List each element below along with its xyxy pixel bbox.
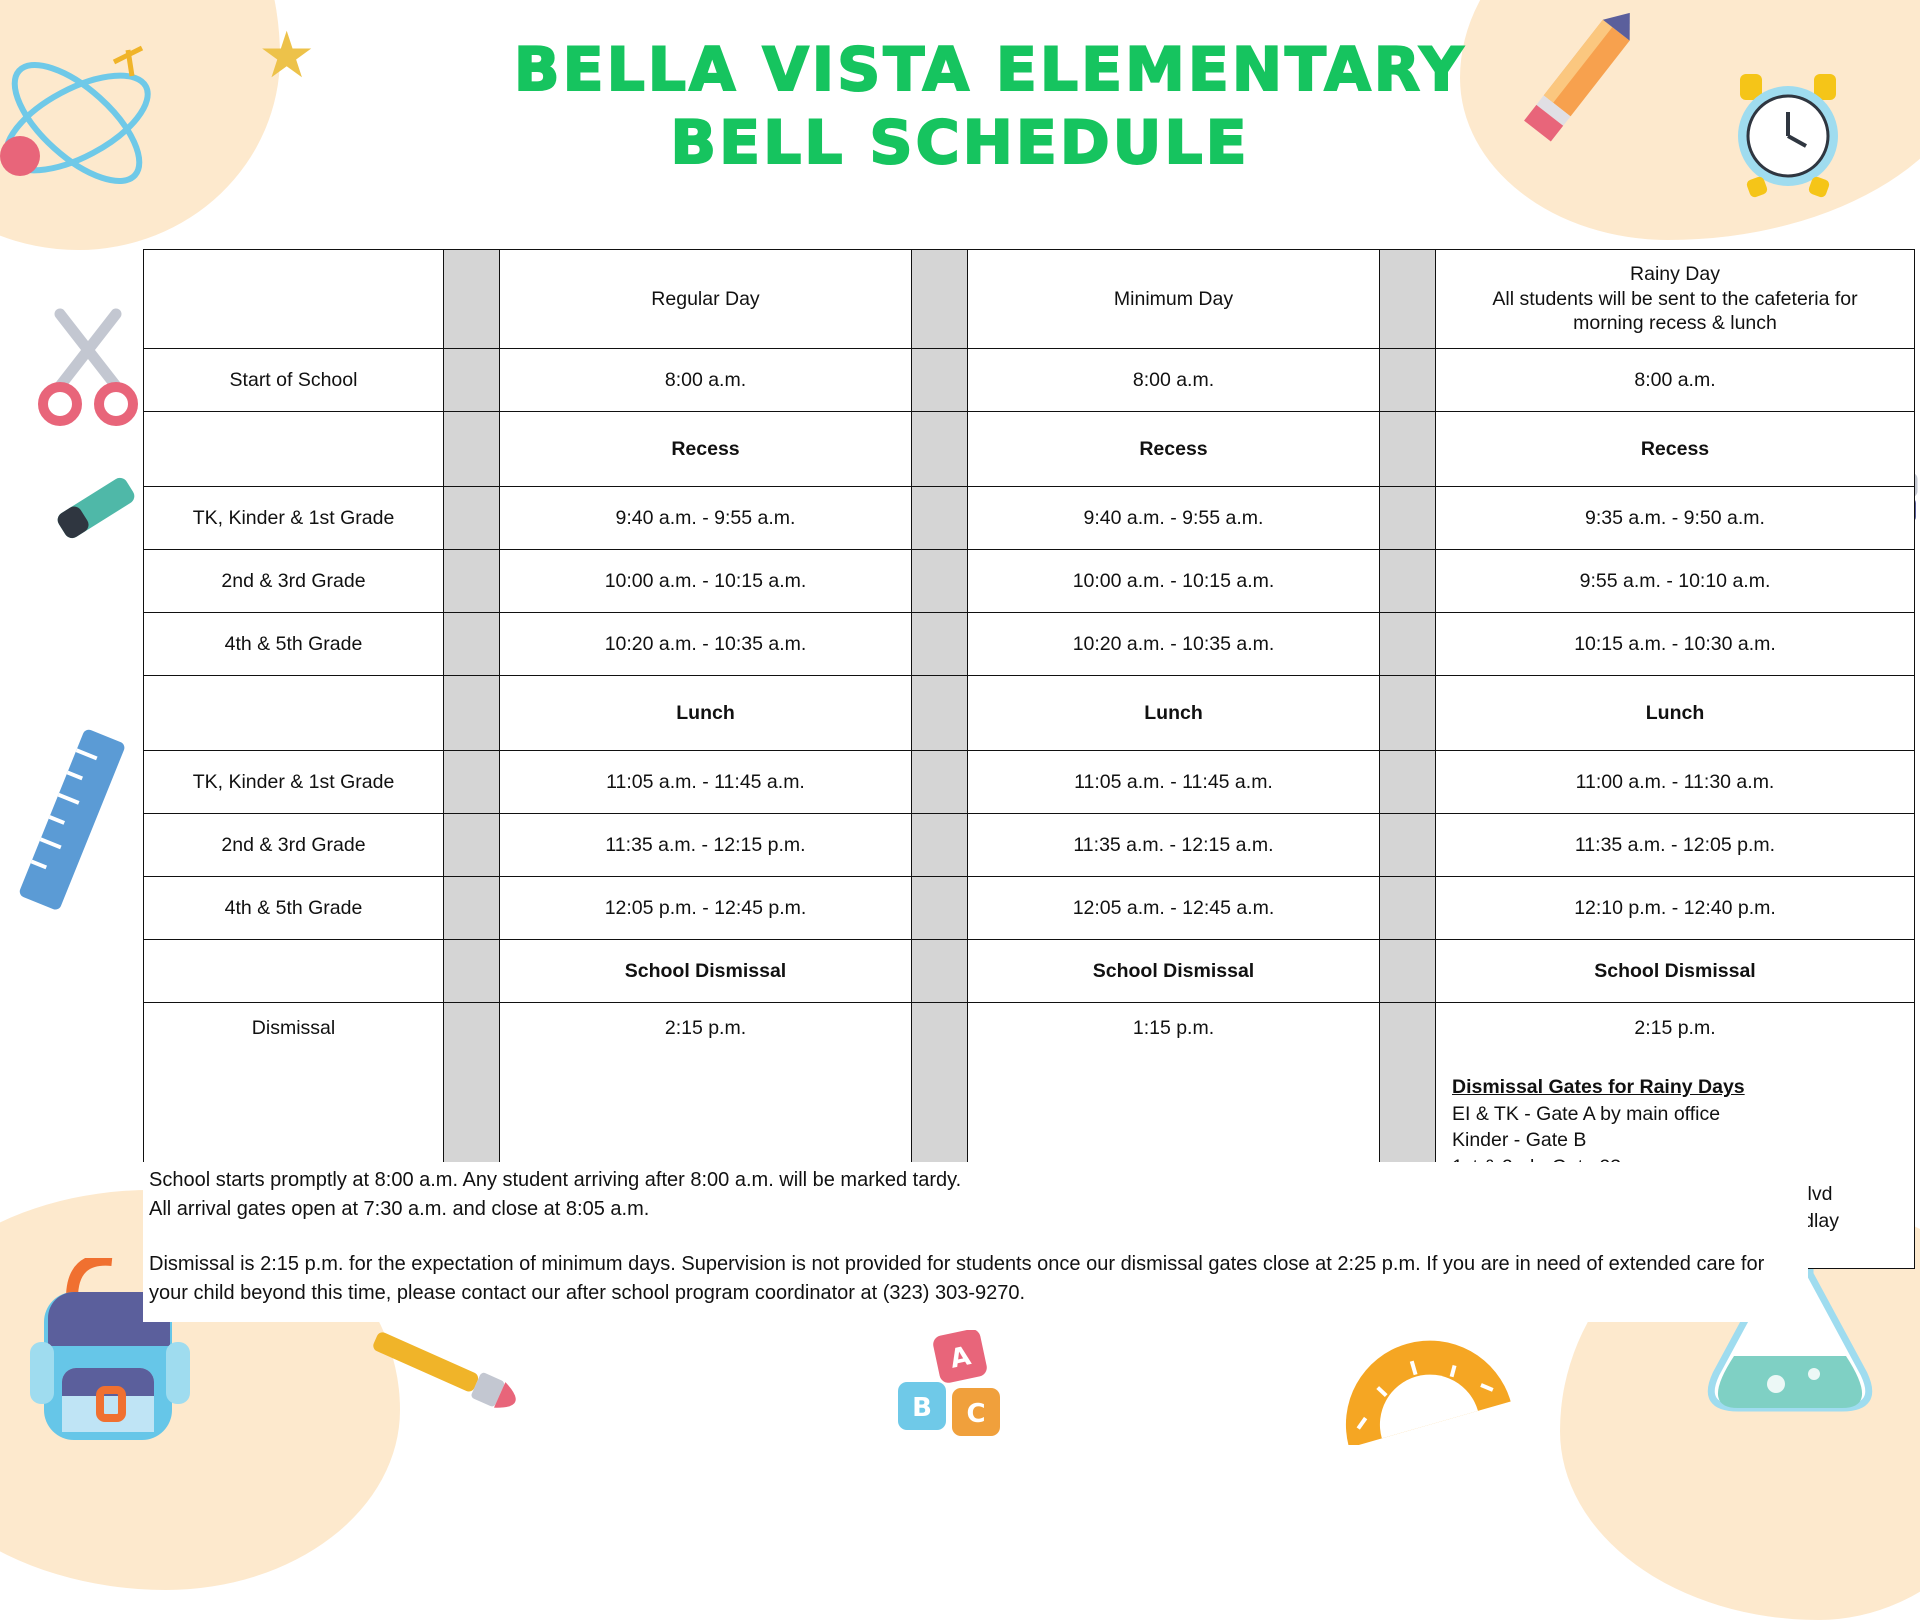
cell-minimum: 12:05 a.m. - 12:45 a.m. bbox=[968, 877, 1380, 940]
row-label: TK, Kinder & 1st Grade bbox=[144, 487, 444, 550]
row-label: Start of School bbox=[144, 349, 444, 412]
column-spacer bbox=[444, 814, 500, 877]
cell-rainy: 10:15 a.m. - 10:30 a.m. bbox=[1436, 613, 1915, 676]
ruler-icon bbox=[8, 720, 138, 920]
cell-rainy: 11:35 a.m. - 12:05 p.m. bbox=[1436, 814, 1915, 877]
column-spacer bbox=[912, 877, 968, 940]
cell-rainy: Recess bbox=[1436, 412, 1915, 487]
column-spacer bbox=[444, 676, 500, 751]
table-row: TK, Kinder & 1st Grade 11:05 a.m. - 11:4… bbox=[144, 751, 1915, 814]
schedule-sheet: Regular Day Minimum Day Rainy Day All st… bbox=[143, 249, 1808, 1269]
column-spacer bbox=[1380, 550, 1436, 613]
cell-rainy: 9:55 a.m. - 10:10 a.m. bbox=[1436, 550, 1915, 613]
cell-rainy: 12:10 p.m. - 12:40 p.m. bbox=[1436, 877, 1915, 940]
column-spacer bbox=[912, 349, 968, 412]
eraser-icon bbox=[48, 468, 144, 548]
note-line-3: Dismissal is 2:15 p.m. for the expectati… bbox=[149, 1250, 1802, 1308]
column-spacer bbox=[444, 250, 500, 349]
cell-regular: 11:05 a.m. - 11:45 a.m. bbox=[500, 751, 912, 814]
svg-text:A: A bbox=[947, 1341, 973, 1375]
column-spacer bbox=[1380, 487, 1436, 550]
table-row: TK, Kinder & 1st Grade 9:40 a.m. - 9:55 … bbox=[144, 487, 1915, 550]
row-label: TK, Kinder & 1st Grade bbox=[144, 751, 444, 814]
svg-text:C: C bbox=[966, 1399, 985, 1429]
table-row: 4th & 5th Grade 10:20 a.m. - 10:35 a.m. … bbox=[144, 613, 1915, 676]
cell-rainy: 9:35 a.m. - 9:50 a.m. bbox=[1436, 487, 1915, 550]
paintbrush-icon bbox=[352, 1318, 542, 1438]
column-header-minimum: Minimum Day bbox=[968, 250, 1380, 349]
dismissal-gate-item: EI & TK - Gate A by main office bbox=[1452, 1101, 1906, 1128]
cell-rainy: 8:00 a.m. bbox=[1436, 349, 1915, 412]
table-row: 2nd & 3rd Grade 10:00 a.m. - 10:15 a.m. … bbox=[144, 550, 1915, 613]
cell-regular: School Dismissal bbox=[500, 940, 912, 1003]
column-spacer bbox=[444, 349, 500, 412]
table-section-row: Recess Recess Recess bbox=[144, 412, 1915, 487]
column-spacer bbox=[444, 550, 500, 613]
table-section-row: Lunch Lunch Lunch bbox=[144, 676, 1915, 751]
column-spacer bbox=[912, 940, 968, 1003]
column-spacer bbox=[1380, 613, 1436, 676]
page-header: ★ Bella Vista Elementary Bell Schedule bbox=[0, 0, 1920, 180]
table-header-row: Regular Day Minimum Day Rainy Day All st… bbox=[144, 250, 1915, 349]
column-spacer bbox=[912, 550, 968, 613]
cell-regular: 12:05 p.m. - 12:45 p.m. bbox=[500, 877, 912, 940]
column-spacer bbox=[1380, 877, 1436, 940]
rainy-note-line-2: morning recess & lunch bbox=[1444, 311, 1906, 335]
dismissal-gate-item: Kinder - Gate B bbox=[1452, 1127, 1906, 1154]
cell-regular: 8:00 a.m. bbox=[500, 349, 912, 412]
cell-rainy: School Dismissal bbox=[1436, 940, 1915, 1003]
dismissal-gates-title: Dismissal Gates for Rainy Days bbox=[1452, 1074, 1906, 1101]
column-spacer bbox=[912, 487, 968, 550]
column-spacer bbox=[444, 751, 500, 814]
rainy-note-line-1: All students will be sent to the cafeter… bbox=[1444, 287, 1906, 311]
column-spacer bbox=[912, 814, 968, 877]
cell-regular: Recess bbox=[500, 412, 912, 487]
scissors-icon bbox=[38, 300, 148, 430]
cell-minimum: 10:20 a.m. - 10:35 a.m. bbox=[968, 613, 1380, 676]
column-spacer bbox=[444, 487, 500, 550]
note-line-1: School starts promptly at 8:00 a.m. Any … bbox=[149, 1166, 1802, 1195]
column-header-regular: Regular Day bbox=[500, 250, 912, 349]
cell-minimum: Lunch bbox=[968, 676, 1380, 751]
column-spacer bbox=[1380, 751, 1436, 814]
row-label: 4th & 5th Grade bbox=[144, 613, 444, 676]
rainy-dismissal-time: 2:15 p.m. bbox=[1440, 1017, 1910, 1040]
column-spacer bbox=[912, 751, 968, 814]
row-label bbox=[144, 676, 444, 751]
column-spacer bbox=[1380, 940, 1436, 1003]
alphabet-blocks-icon: A B C bbox=[890, 1330, 1040, 1445]
column-spacer bbox=[912, 613, 968, 676]
column-spacer bbox=[912, 412, 968, 487]
cell-regular: 11:35 a.m. - 12:15 p.m. bbox=[500, 814, 912, 877]
table-row: Start of School 8:00 a.m. 8:00 a.m. 8:00… bbox=[144, 349, 1915, 412]
cell-regular: 10:00 a.m. - 10:15 a.m. bbox=[500, 550, 912, 613]
cell-minimum: Recess bbox=[968, 412, 1380, 487]
column-spacer bbox=[444, 412, 500, 487]
row-label bbox=[144, 940, 444, 1003]
svg-text:B: B bbox=[912, 1393, 932, 1423]
row-label: 2nd & 3rd Grade bbox=[144, 550, 444, 613]
column-spacer bbox=[1380, 412, 1436, 487]
cell-minimum: 11:05 a.m. - 11:45 a.m. bbox=[968, 751, 1380, 814]
column-header-rainy: Rainy Day All students will be sent to t… bbox=[1436, 250, 1915, 349]
cell-regular: Lunch bbox=[500, 676, 912, 751]
cell-regular: 10:20 a.m. - 10:35 a.m. bbox=[500, 613, 912, 676]
column-spacer bbox=[912, 676, 968, 751]
cell-minimum: 10:00 a.m. - 10:15 a.m. bbox=[968, 550, 1380, 613]
cell-minimum: 9:40 a.m. - 9:55 a.m. bbox=[968, 487, 1380, 550]
column-spacer bbox=[1380, 676, 1436, 751]
column-spacer bbox=[444, 613, 500, 676]
rainy-title: Rainy Day bbox=[1444, 262, 1906, 286]
table-row: 4th & 5th Grade 12:05 p.m. - 12:45 p.m. … bbox=[144, 877, 1915, 940]
note-spacer bbox=[149, 1224, 1802, 1250]
note-line-2: All arrival gates open at 7:30 a.m. and … bbox=[149, 1195, 1802, 1224]
column-spacer bbox=[444, 877, 500, 940]
header-blank-cell bbox=[144, 250, 444, 349]
column-spacer bbox=[1380, 250, 1436, 349]
row-label bbox=[144, 412, 444, 487]
column-spacer bbox=[912, 250, 968, 349]
cell-rainy: Lunch bbox=[1436, 676, 1915, 751]
table-row: 2nd & 3rd Grade 11:35 a.m. - 12:15 p.m. … bbox=[144, 814, 1915, 877]
cell-minimum: 11:35 a.m. - 12:15 a.m. bbox=[968, 814, 1380, 877]
row-label: 4th & 5th Grade bbox=[144, 877, 444, 940]
page-title-line-2: Bell Schedule bbox=[0, 107, 1920, 180]
row-label: 2nd & 3rd Grade bbox=[144, 814, 444, 877]
column-spacer bbox=[1380, 349, 1436, 412]
column-spacer bbox=[1380, 814, 1436, 877]
cell-minimum: 8:00 a.m. bbox=[968, 349, 1380, 412]
table-section-row: School Dismissal School Dismissal School… bbox=[144, 940, 1915, 1003]
bell-schedule-table: Regular Day Minimum Day Rainy Day All st… bbox=[143, 249, 1915, 1269]
cell-regular: 9:40 a.m. - 9:55 a.m. bbox=[500, 487, 912, 550]
cell-minimum: School Dismissal bbox=[968, 940, 1380, 1003]
cell-rainy: 11:00 a.m. - 11:30 a.m. bbox=[1436, 751, 1915, 814]
footer-notes: School starts promptly at 8:00 a.m. Any … bbox=[143, 1162, 1808, 1322]
column-spacer bbox=[444, 940, 500, 1003]
protractor-icon bbox=[1320, 1330, 1520, 1445]
